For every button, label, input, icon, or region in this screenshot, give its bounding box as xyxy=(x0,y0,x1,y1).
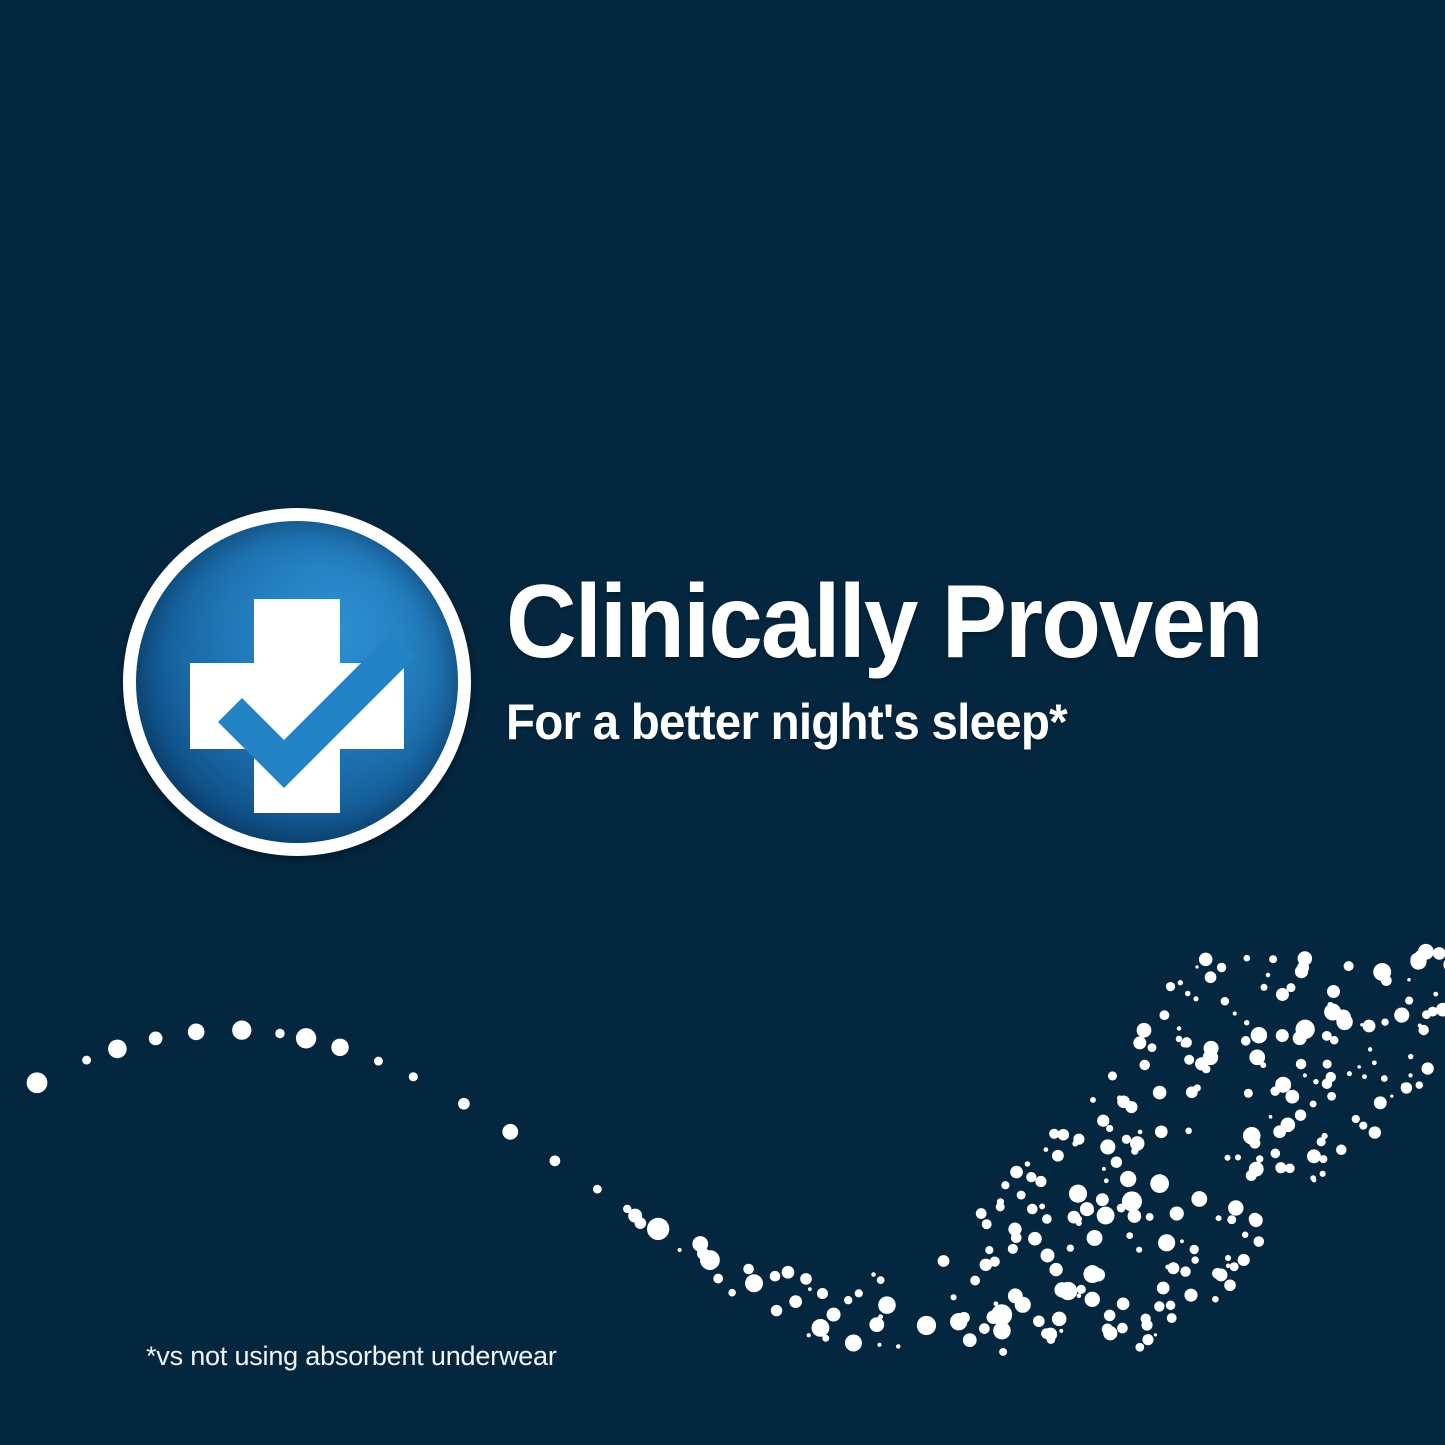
headline-block: Clinically Proven For a better night's s… xyxy=(506,570,1406,748)
page-title: Clinically Proven xyxy=(506,570,1352,674)
footnote-disclaimer: *vs not using absorbent underwear xyxy=(146,1340,557,1372)
cross-shape xyxy=(190,599,404,813)
medical-cross-check-icon xyxy=(136,521,458,843)
page-subtitle: For a better night's sleep* xyxy=(506,696,1361,748)
promo-banner: Clinically Proven For a better night's s… xyxy=(0,0,1445,1445)
clinically-proven-badge xyxy=(123,508,471,856)
